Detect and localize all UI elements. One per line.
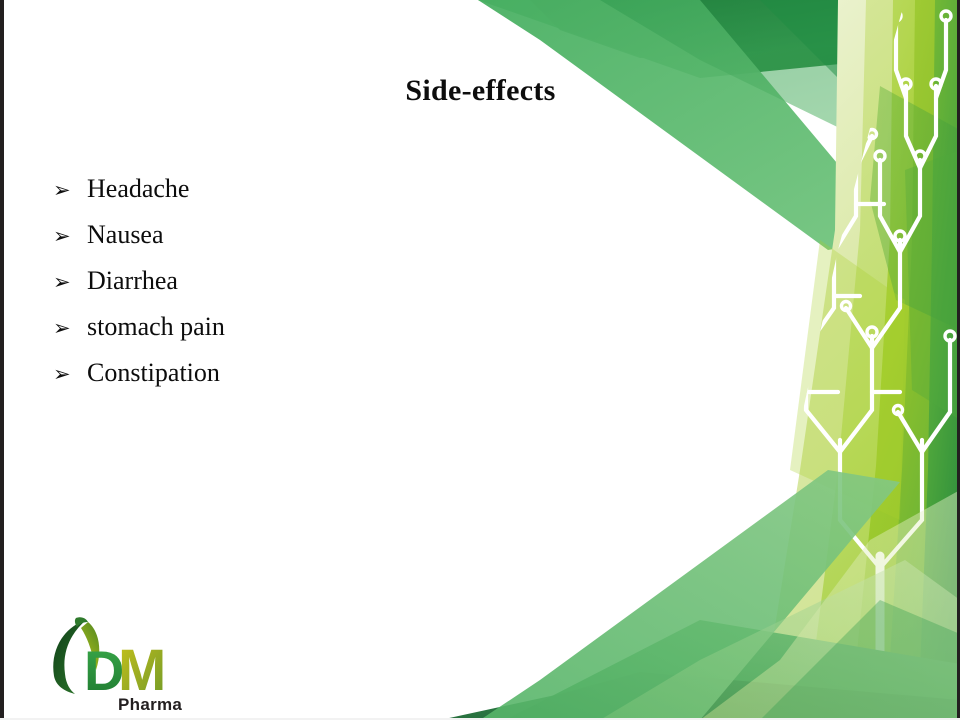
arrow-bullet-icon: ➢	[53, 220, 87, 251]
side-effects-list: ➢ Headache ➢ Nausea ➢ Diarrhea ➢ stomach…	[53, 174, 483, 404]
top-right-polygons	[478, 0, 960, 250]
page-title: Side-effects	[405, 74, 555, 108]
arrow-bullet-icon: ➢	[53, 312, 87, 343]
right-panel-polygons	[760, 0, 960, 720]
logo-letter-m: M	[118, 638, 166, 703]
list-item-label: Diarrhea	[87, 266, 178, 296]
circuit-tree-pattern	[723, 11, 955, 720]
list-item: ➢ Diarrhea	[53, 266, 483, 312]
arrow-bullet-icon: ➢	[53, 358, 87, 389]
leaf-swoosh-icon	[53, 620, 86, 694]
list-item: ➢ stomach pain	[53, 312, 483, 358]
list-item-label: Constipation	[87, 358, 220, 388]
list-item: ➢ Nausea	[53, 220, 483, 266]
arrow-bullet-icon: ➢	[53, 174, 87, 205]
list-item-label: stomach pain	[87, 312, 225, 342]
arrow-bullet-icon: ➢	[53, 266, 87, 297]
list-item-label: Headache	[87, 174, 189, 204]
slide-border-left	[0, 0, 4, 720]
logo-graphic: D M Pharma	[48, 612, 208, 716]
bottom-right-polygons	[440, 470, 960, 720]
logo-tagline: Pharma	[118, 695, 182, 714]
list-item: ➢ Constipation	[53, 358, 483, 404]
list-item-label: Nausea	[87, 220, 164, 250]
dm-pharma-logo: D M Pharma	[48, 612, 208, 716]
list-item: ➢ Headache	[53, 174, 483, 220]
presentation-slide: Side-effects ➢ Headache ➢ Nausea ➢ Diarr…	[0, 0, 960, 720]
slide-title: Side-effects	[0, 74, 960, 108]
